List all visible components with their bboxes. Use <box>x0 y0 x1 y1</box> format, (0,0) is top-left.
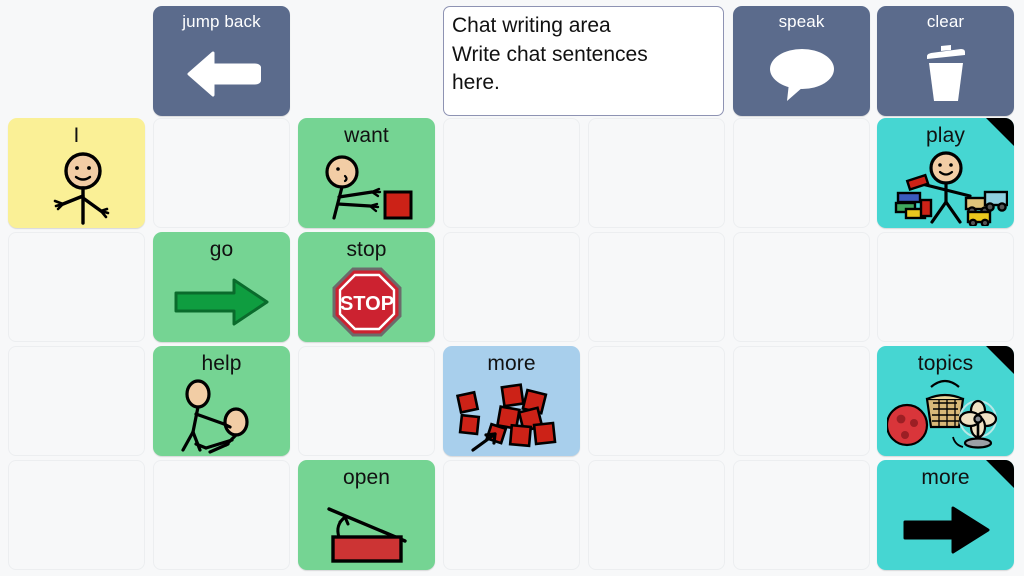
many-red-blocks-icon <box>443 375 580 456</box>
empty-cell <box>877 232 1014 342</box>
empty-cell <box>733 460 870 570</box>
empty-cell <box>153 460 290 570</box>
cell-label: want <box>298 118 435 147</box>
basket-ball-fan-icon <box>877 375 1014 456</box>
jump-back-label: jump back <box>153 6 290 32</box>
chat-line: here. <box>452 69 715 98</box>
empty-cell <box>588 232 725 342</box>
trash-can-icon <box>877 32 1014 116</box>
folder-corner-icon <box>986 460 1014 488</box>
black-arrow-right-icon <box>877 489 1014 570</box>
stop-sign-icon: STOP <box>298 261 435 342</box>
cell-label: I <box>8 118 145 147</box>
folder-corner-icon <box>986 118 1014 146</box>
empty-cell <box>443 232 580 342</box>
cell-label: help <box>153 346 290 375</box>
empty-cell <box>588 346 725 456</box>
empty-cell <box>733 346 870 456</box>
jump-back-button[interactable]: jump back <box>153 6 290 116</box>
cell-stop[interactable]: stop STOP <box>298 232 435 342</box>
cell-open[interactable]: open <box>298 460 435 570</box>
cell-label: more <box>443 346 580 375</box>
arrow-left-icon <box>153 32 290 116</box>
aac-communication-board: jump back Chat writing area Write chat s… <box>0 0 1024 576</box>
opening-box-lid-icon <box>298 489 435 570</box>
empty-cell <box>733 232 870 342</box>
chat-line: Write chat sentences <box>452 41 715 70</box>
empty-cell <box>588 118 725 228</box>
empty-cell <box>733 118 870 228</box>
cell-more-modifier[interactable]: more <box>443 346 580 456</box>
empty-cell <box>443 460 580 570</box>
cell-want[interactable]: want <box>298 118 435 228</box>
cell-label: open <box>298 460 435 489</box>
person-reaching-for-object-icon <box>298 147 435 228</box>
cell-more-navigation[interactable]: more <box>877 460 1014 570</box>
person-helping-person-icon <box>153 375 290 456</box>
clear-label: clear <box>877 6 1014 32</box>
cell-label: go <box>153 232 290 261</box>
cell-label: stop <box>298 232 435 261</box>
person-pointing-at-self-icon <box>8 147 145 228</box>
chat-writing-area[interactable]: Chat writing area Write chat sentences h… <box>443 6 724 116</box>
cell-help[interactable]: help <box>153 346 290 456</box>
cell-go[interactable]: go <box>153 232 290 342</box>
empty-cell <box>153 118 290 228</box>
chat-line: Chat writing area <box>452 12 715 41</box>
cell-i[interactable]: I <box>8 118 145 228</box>
folder-corner-icon <box>986 346 1014 374</box>
empty-cell <box>588 460 725 570</box>
stop-sign-text: STOP <box>339 293 393 315</box>
green-arrow-right-icon <box>153 261 290 342</box>
speak-label: speak <box>733 6 870 32</box>
speak-button[interactable]: speak <box>733 6 870 116</box>
clear-button[interactable]: clear <box>877 6 1014 116</box>
cell-play[interactable]: play <box>877 118 1014 228</box>
empty-cell <box>8 346 145 456</box>
empty-cell <box>298 346 435 456</box>
empty-cell <box>443 118 580 228</box>
empty-cell <box>8 232 145 342</box>
empty-cell <box>8 460 145 570</box>
cell-topics[interactable]: topics <box>877 346 1014 456</box>
speech-bubble-icon <box>733 32 870 116</box>
child-playing-with-toys-icon <box>877 147 1014 228</box>
